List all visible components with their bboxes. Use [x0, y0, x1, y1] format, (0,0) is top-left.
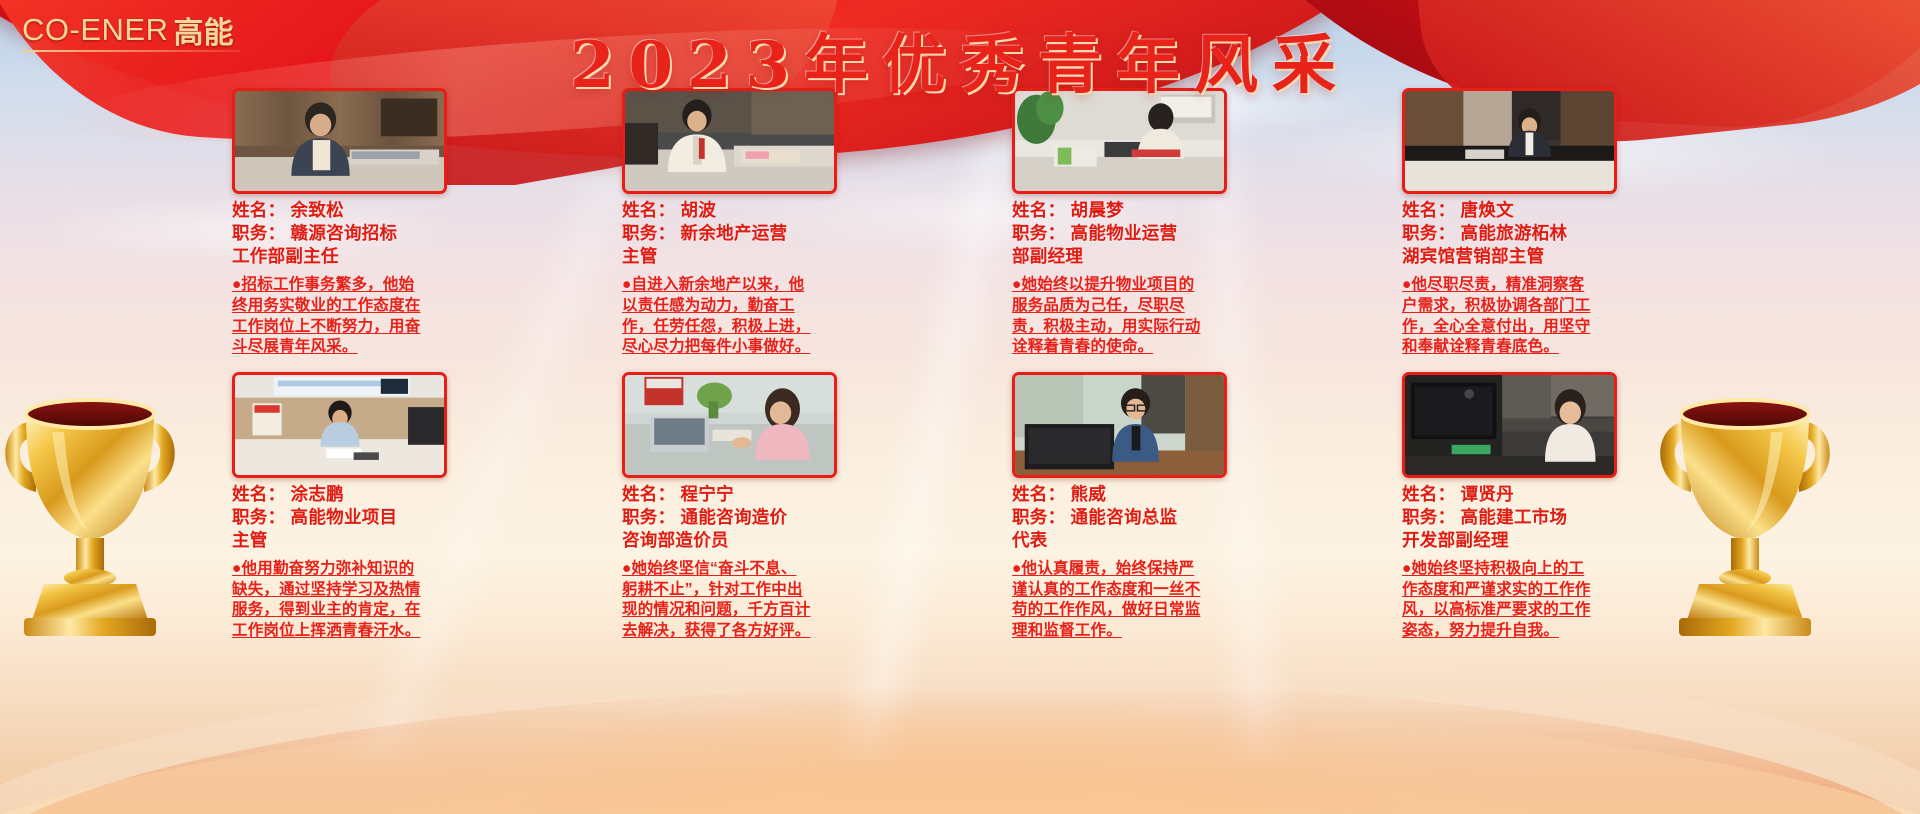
profile-card: 姓名： 胡波 职务： 新余地产运营 主管 ●自进入新余地产以来，他 以责任感为动…	[622, 88, 922, 358]
profile-description: ●她始终坚信“奋斗不息、 躬耕不止”，针对工作中出 现的情况和问题，千方百计 去…	[622, 559, 922, 641]
profile-info: 姓名： 余致松 职务： 赣源咨询招标 工作部副主任 ●招标工作事务繁多，他始 终…	[232, 199, 532, 358]
profile-info: 姓名： 谭贤丹 职务： 高能建工市场 开发部副经理 ●她始终坚持积极向上的工 作…	[1402, 483, 1702, 642]
profile-photo	[1015, 91, 1224, 191]
profile-info: 姓名： 涂志鹏 职务： 高能物业项目 主管 ●他用勤奋努力弥补知识的 缺失，通过…	[232, 483, 532, 642]
profile-role: 职务： 高能物业项目 主管	[232, 506, 532, 552]
profile-role: 职务： 高能旅游柘林 湖宾馆营销部主管	[1402, 222, 1702, 268]
profile-photo	[1405, 91, 1614, 191]
profile-photo	[625, 375, 834, 475]
profile-name: 姓名： 程宁宁	[622, 483, 922, 506]
bottom-swoosh-orange	[0, 684, 1920, 814]
profile-photo	[1405, 375, 1614, 475]
profile-name: 姓名： 涂志鹏	[232, 483, 532, 506]
bottom-swoosh-white	[0, 654, 1920, 814]
profile-name: 姓名： 余致松	[232, 199, 532, 222]
profile-description: ●自进入新余地产以来，他 以责任感为动力，勤奋工 作，任劳任怨，积极上进， 尽心…	[622, 275, 922, 357]
profile-description: ●她始终坚持积极向上的工 作态度和严谨求实的工作作 风，以高标准严要求的工作 姿…	[1402, 559, 1702, 641]
profile-photo	[1015, 375, 1224, 475]
profile-card: 姓名： 涂志鹏 职务： 高能物业项目 主管 ●他用勤奋努力弥补知识的 缺失，通过…	[232, 372, 532, 642]
profile-name: 姓名： 胡波	[622, 199, 922, 222]
profile-role: 职务： 通能咨询造价 咨询部造价员	[622, 506, 922, 552]
profile-photo-frame	[232, 372, 447, 478]
profile-info: 姓名： 程宁宁 职务： 通能咨询造价 咨询部造价员 ●她始终坚信“奋斗不息、 躬…	[622, 483, 922, 642]
profile-info: 姓名： 熊威 职务： 通能咨询总监 代表 ●他认真履责，始终保持严 谨认真的工作…	[1012, 483, 1312, 642]
profile-photo-frame	[1402, 372, 1617, 478]
profile-photo-frame	[622, 372, 837, 478]
logo-wordmark: CO-ENER	[22, 12, 168, 48]
profile-role: 职务： 赣源咨询招标 工作部副主任	[232, 222, 532, 268]
profile-description: ●他认真履责，始终保持严 谨认真的工作态度和一丝不 苟的工作作风，做好日常监 理…	[1012, 559, 1312, 641]
profile-info: 姓名： 胡晨梦 职务： 高能物业运营 部副经理 ●她始终以提升物业项目的 服务品…	[1012, 199, 1312, 358]
profile-photo	[235, 375, 444, 475]
profile-name: 姓名： 谭贤丹	[1402, 483, 1702, 506]
profile-info: 姓名： 胡波 职务： 新余地产运营 主管 ●自进入新余地产以来，他 以责任感为动…	[622, 199, 922, 358]
profile-role: 职务： 新余地产运营 主管	[622, 222, 922, 268]
profile-photo	[235, 91, 444, 191]
profile-card: 姓名： 余致松 职务： 赣源咨询招标 工作部副主任 ●招标工作事务繁多，他始 终…	[232, 88, 532, 358]
profile-card: 姓名： 胡晨梦 职务： 高能物业运营 部副经理 ●她始终以提升物业项目的 服务品…	[1012, 88, 1312, 358]
profile-photo-frame	[1012, 372, 1227, 478]
profile-info: 姓名： 唐焕文 职务： 高能旅游柘林 湖宾馆营销部主管 ●他尽职尽责，精准洞察客…	[1402, 199, 1702, 358]
page-title: 2023年优秀青年风采	[0, 14, 1920, 106]
profile-role: 职务： 通能咨询总监 代表	[1012, 506, 1312, 552]
profile-description: ●她始终以提升物业项目的 服务品质为己任，尽职尽 责，积极主动，用实际行动 诠释…	[1012, 275, 1312, 357]
profile-card: 姓名： 谭贤丹 职务： 高能建工市场 开发部副经理 ●她始终坚持积极向上的工 作…	[1402, 372, 1702, 642]
profile-description: ●他用勤奋努力弥补知识的 缺失，通过坚持学习及热情 服务，得到业主的肯定，在 工…	[232, 559, 532, 641]
profile-name: 姓名： 熊威	[1012, 483, 1312, 506]
company-logo: CO-ENER 高能	[22, 8, 233, 52]
profile-name: 姓名： 胡晨梦	[1012, 199, 1312, 222]
profile-role: 职务： 高能建工市场 开发部副经理	[1402, 506, 1702, 552]
profile-card-grid: 姓名： 余致松 职务： 赣源咨询招标 工作部副主任 ●招标工作事务繁多，他始 终…	[232, 88, 1702, 641]
logo-underline	[22, 50, 240, 52]
trophy-left	[0, 352, 190, 647]
profile-card: 姓名： 程宁宁 职务： 通能咨询造价 咨询部造价员 ●她始终坚信“奋斗不息、 躬…	[622, 372, 922, 642]
profile-photo	[625, 91, 834, 191]
profile-role: 职务： 高能物业运营 部副经理	[1012, 222, 1312, 268]
profile-description: ●他尽职尽责，精准洞察客 户需求，积极协调各部门工 作，全心全意付出，用坚守 和…	[1402, 275, 1702, 357]
profile-card: 姓名： 熊威 职务： 通能咨询总监 代表 ●他认真履责，始终保持严 谨认真的工作…	[1012, 372, 1312, 642]
profile-name: 姓名： 唐焕文	[1402, 199, 1702, 222]
bottom-swoosh-cream	[0, 704, 1920, 814]
profile-description: ●招标工作事务繁多，他始 终用务实敬业的工作态度在 工作岗位上不断努力，用奋 斗…	[232, 275, 532, 357]
logo-chinese-name: 高能	[173, 8, 233, 52]
profile-card: 姓名： 唐焕文 职务： 高能旅游柘林 湖宾馆营销部主管 ●他尽职尽责，精准洞察客…	[1402, 88, 1702, 358]
